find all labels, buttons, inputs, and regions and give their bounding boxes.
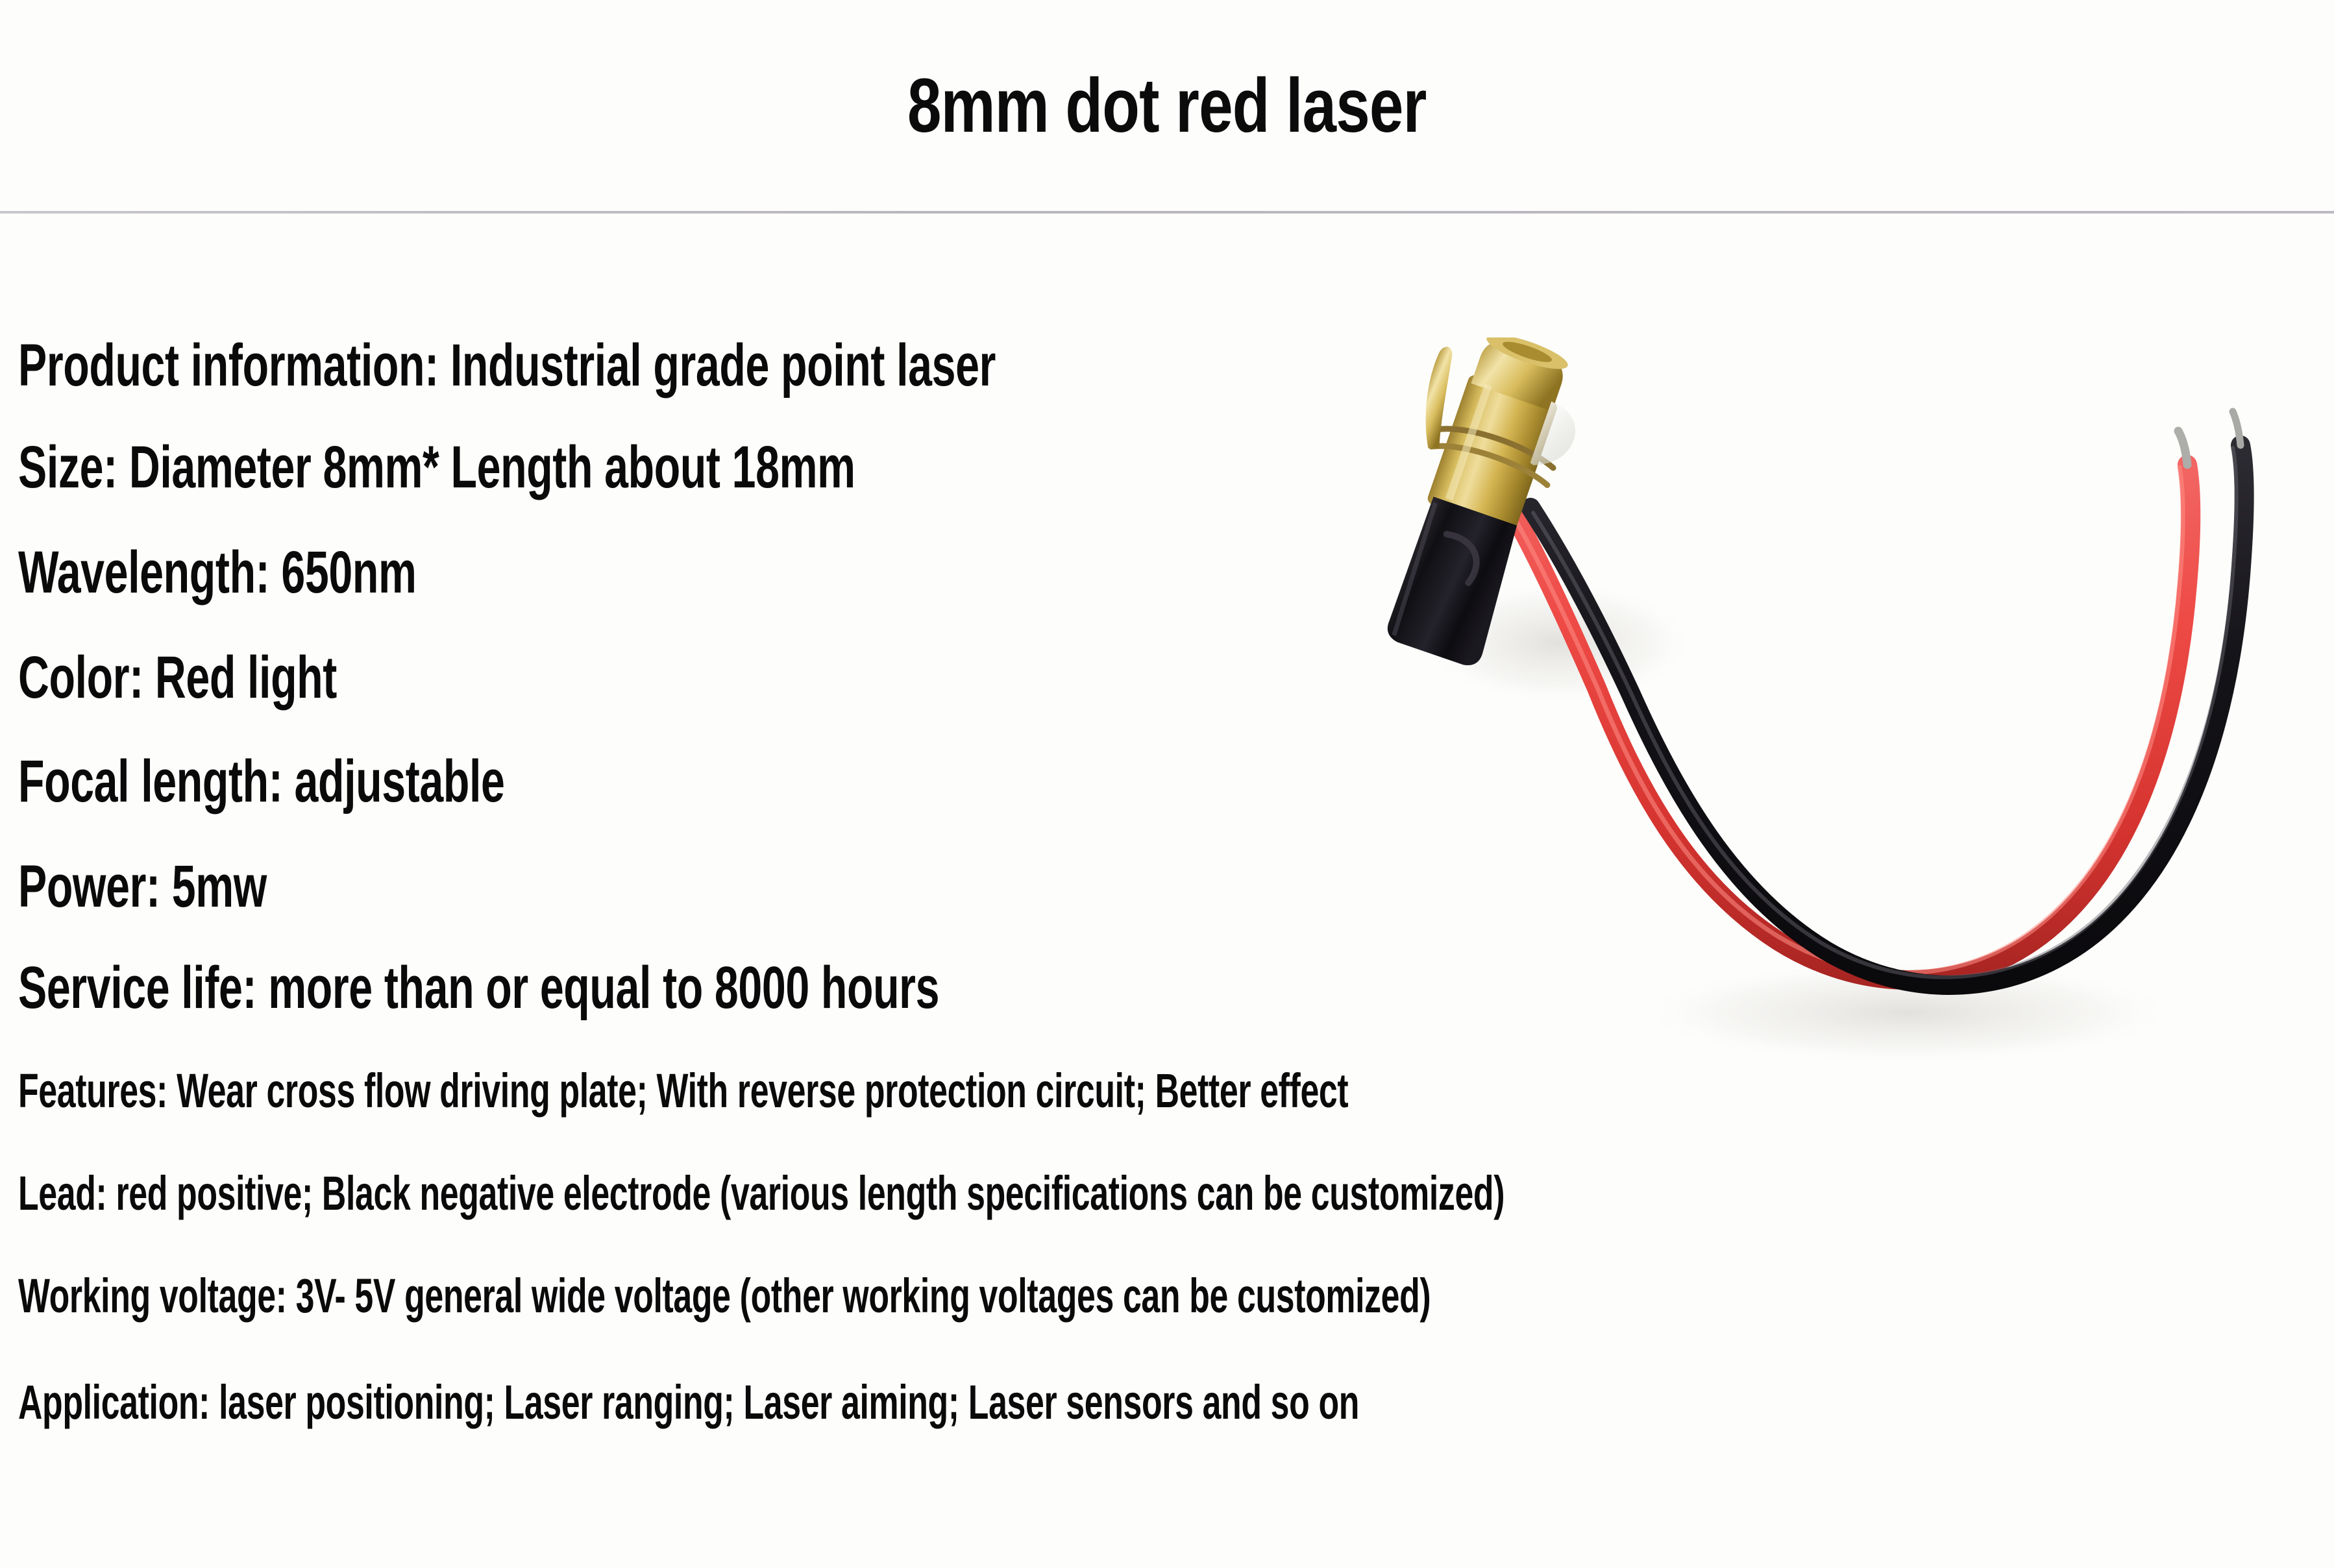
black-wire-highlight xyxy=(1533,448,2237,977)
header-divider xyxy=(0,211,2334,214)
laser-aperture xyxy=(1483,337,1571,376)
page-title: 8mm dot red laser xyxy=(907,67,1427,144)
wire-loop-shadow xyxy=(1636,961,2181,1064)
spec-line-lead: Lead: red positive; Black negative elect… xyxy=(18,1170,1505,1218)
spec-line-color: Color: Red light xyxy=(18,648,337,707)
spec-line-size: Size: Diameter 8mm* Length about 18mm xyxy=(18,437,855,497)
red-wire-highlight xyxy=(1514,467,2183,973)
spec-line-features: Features: Wear cross flow driving plate;… xyxy=(18,1067,1348,1115)
barrel-highlight xyxy=(1449,385,1489,499)
red-lead-wire xyxy=(1512,465,2191,980)
spec-line-power: Power: 5mw xyxy=(18,857,267,916)
black-wire-copper-tip xyxy=(2233,411,2241,445)
spec-line-service-life: Service life: more than or equal to 8000… xyxy=(18,958,939,1018)
laser-module-body xyxy=(1345,337,1599,675)
spec-line-working-voltage: Working voltage: 3V- 5V general wide vol… xyxy=(18,1272,1431,1320)
plastic-collar xyxy=(1530,401,1583,474)
sleeve-crease xyxy=(1434,533,1483,583)
red-wire-copper-tip xyxy=(2178,431,2187,465)
heat-shrink-sleeve xyxy=(1384,496,1526,670)
spec-line-wavelength: Wavelength: 650nm xyxy=(18,543,416,602)
product-photo-laser-module xyxy=(1324,337,2285,1090)
retaining-spring-wire-2 xyxy=(1431,436,1550,486)
brass-front-cap xyxy=(1471,337,1569,411)
brass-barrel xyxy=(1426,373,1559,532)
retaining-spring-wire xyxy=(1438,419,1556,469)
spec-line-application: Application: laser positioning; Laser ra… xyxy=(18,1378,1359,1427)
module-shadow xyxy=(1421,580,1694,705)
black-lead-wire xyxy=(1530,445,2244,985)
spec-line-focal-length: Focal length: adjustable xyxy=(18,752,505,811)
focus-adjust-tab xyxy=(1408,345,1471,452)
sleeve-edge-highlight xyxy=(1390,503,1439,635)
page-header: 8mm dot red laser xyxy=(0,0,2334,212)
laser-module-illustration xyxy=(1324,337,2285,1090)
laser-aperture-inner xyxy=(1501,338,1554,366)
spec-line-product-information: Product information: Industrial grade po… xyxy=(18,336,996,395)
